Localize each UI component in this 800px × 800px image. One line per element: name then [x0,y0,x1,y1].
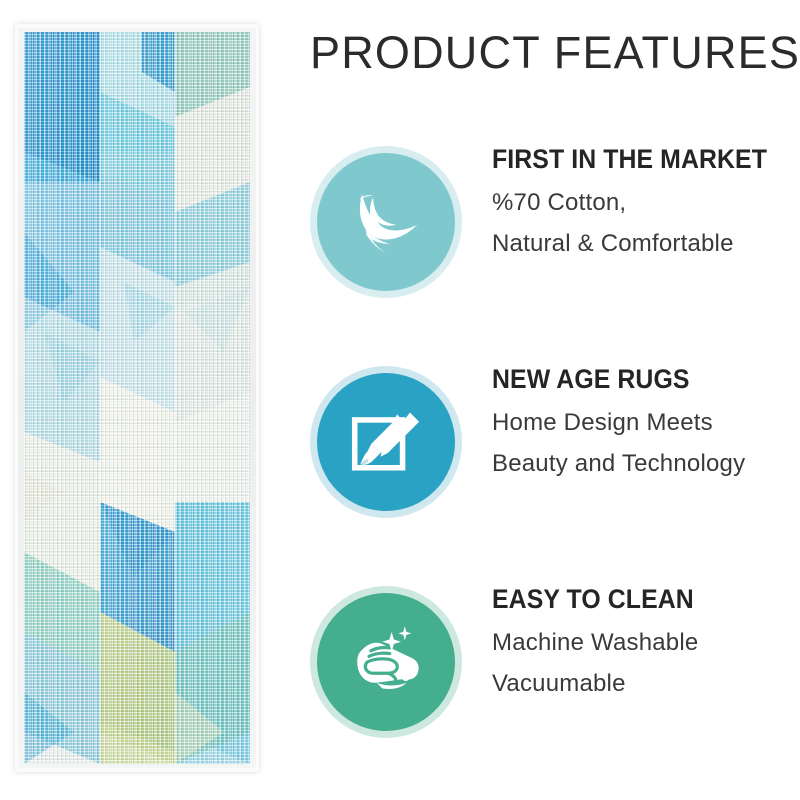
feature-item-easy-to-clean: EASY TO CLEAN Machine Washable Vacuumabl… [296,582,800,742]
badge-disc-3 [317,593,455,731]
feature-line-2-2: Beauty and Technology [492,443,792,484]
feature-line-3-1: Machine Washable [492,622,792,663]
features-panel: PRODUCT FEATURES FIRST IN THE MARKET %70 [286,0,800,800]
rug-lighting-sheen [24,32,250,764]
infographic-page: PRODUCT FEATURES FIRST IN THE MARKET %70 [0,0,800,800]
feature-line-1-2: Natural & Comfortable [492,223,792,264]
feature-badge-3 [310,586,462,738]
feature-badge-1 [310,146,462,298]
rug-pattern-field [24,32,250,764]
feature-heading-1: FIRST IN THE MARKET [492,142,768,176]
badge-disc-1 [317,153,455,291]
page-title: PRODUCT FEATURES [310,27,790,79]
feature-line-1-1: %70 Cotton, [492,182,792,223]
feather-icon [340,176,432,268]
feature-body-1: %70 Cotton, Natural & Comfortable [492,182,792,264]
feature-body-3: Machine Washable Vacuumable [492,622,792,704]
feature-heading-3: EASY TO CLEAN [492,582,768,616]
feature-text-1: FIRST IN THE MARKET %70 Cotton, Natural … [492,142,792,264]
product-rug-photo [15,24,259,772]
hand-cleaning-cloth-icon [339,615,433,709]
feature-text-3: EASY TO CLEAN Machine Washable Vacuumabl… [492,582,792,704]
feature-body-2: Home Design Meets Beauty and Technology [492,402,792,484]
design-pen-brush-icon [340,396,432,488]
feature-text-2: NEW AGE RUGS Home Design Meets Beauty an… [492,362,792,484]
badge-disc-2 [317,373,455,511]
feature-item-first-in-the-market: FIRST IN THE MARKET %70 Cotton, Natural … [296,142,800,302]
feature-heading-2: NEW AGE RUGS [492,362,768,396]
feature-badge-2 [310,366,462,518]
feature-line-3-2: Vacuumable [492,663,792,704]
feature-line-2-1: Home Design Meets [492,402,792,443]
feature-item-new-age-rugs: NEW AGE RUGS Home Design Meets Beauty an… [296,362,800,522]
